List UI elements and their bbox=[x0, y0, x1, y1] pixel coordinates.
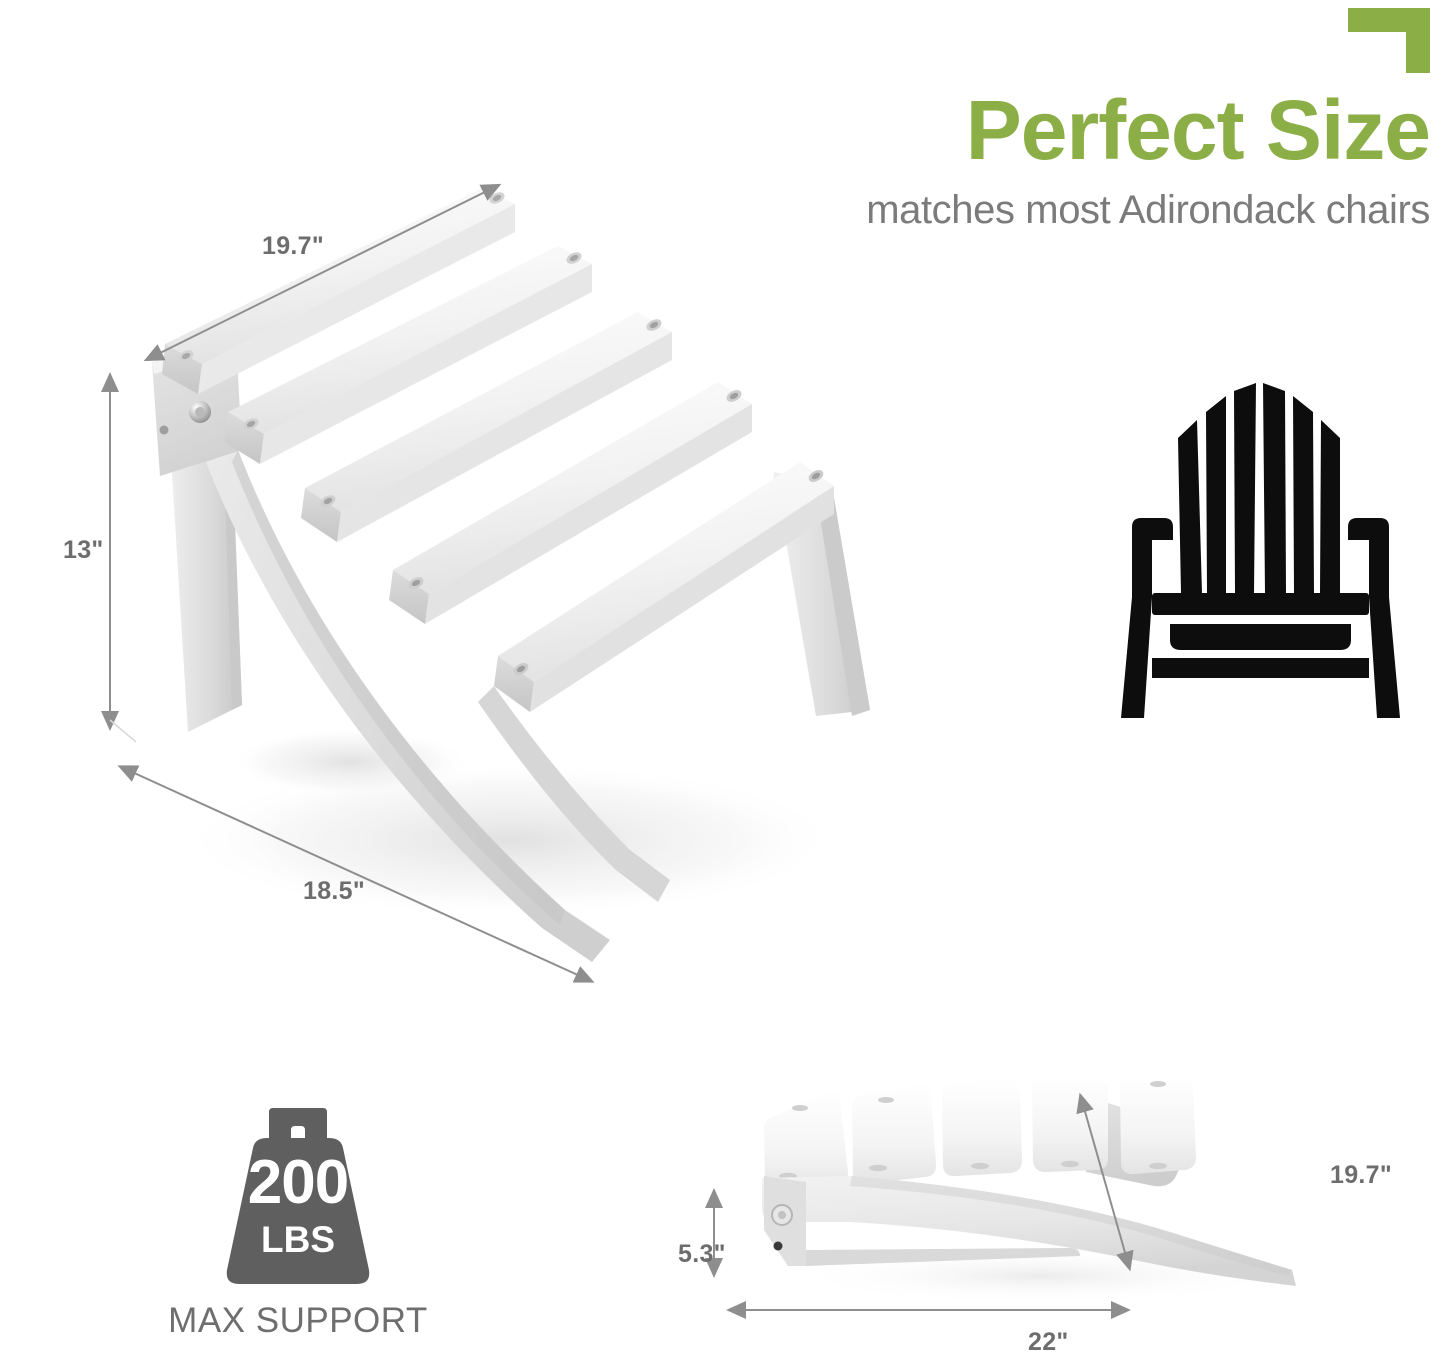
dimension-label-folded-length: 22" bbox=[1028, 1328, 1069, 1357]
adirondack-ottoman-3d-icon bbox=[110, 150, 930, 980]
dimension-label-width: 19.7" bbox=[262, 232, 324, 261]
adirondack-chair-silhouette-icon bbox=[1108, 372, 1413, 732]
max-support-badge: 200 LBS MAX SUPPORT bbox=[148, 1108, 448, 1341]
dimension-label-folded-height: 5.3" bbox=[678, 1240, 726, 1269]
dimension-label-depth: 18.5" bbox=[303, 877, 365, 906]
folded-slat-4 bbox=[1032, 1080, 1108, 1172]
infographic-page: Perfect Size matches most Adirondack cha… bbox=[0, 0, 1445, 1363]
folded-slat-2 bbox=[852, 1084, 936, 1184]
corner-bracket-icon bbox=[1348, 8, 1430, 73]
folded-slat-5 bbox=[1120, 1080, 1196, 1174]
max-support-caption: MAX SUPPORT bbox=[148, 1301, 448, 1341]
dimension-label-folded-diagonal: 19.7" bbox=[1330, 1161, 1392, 1190]
dimension-label-height: 13" bbox=[63, 536, 104, 565]
weight-value: 200 bbox=[193, 1152, 403, 1214]
adirondack-ottoman-folded-icon bbox=[740, 1080, 1330, 1310]
weight-unit: LBS bbox=[193, 1221, 403, 1258]
weight-kettlebell-icon: 200 LBS bbox=[193, 1108, 403, 1293]
folded-slat-3 bbox=[942, 1080, 1022, 1176]
